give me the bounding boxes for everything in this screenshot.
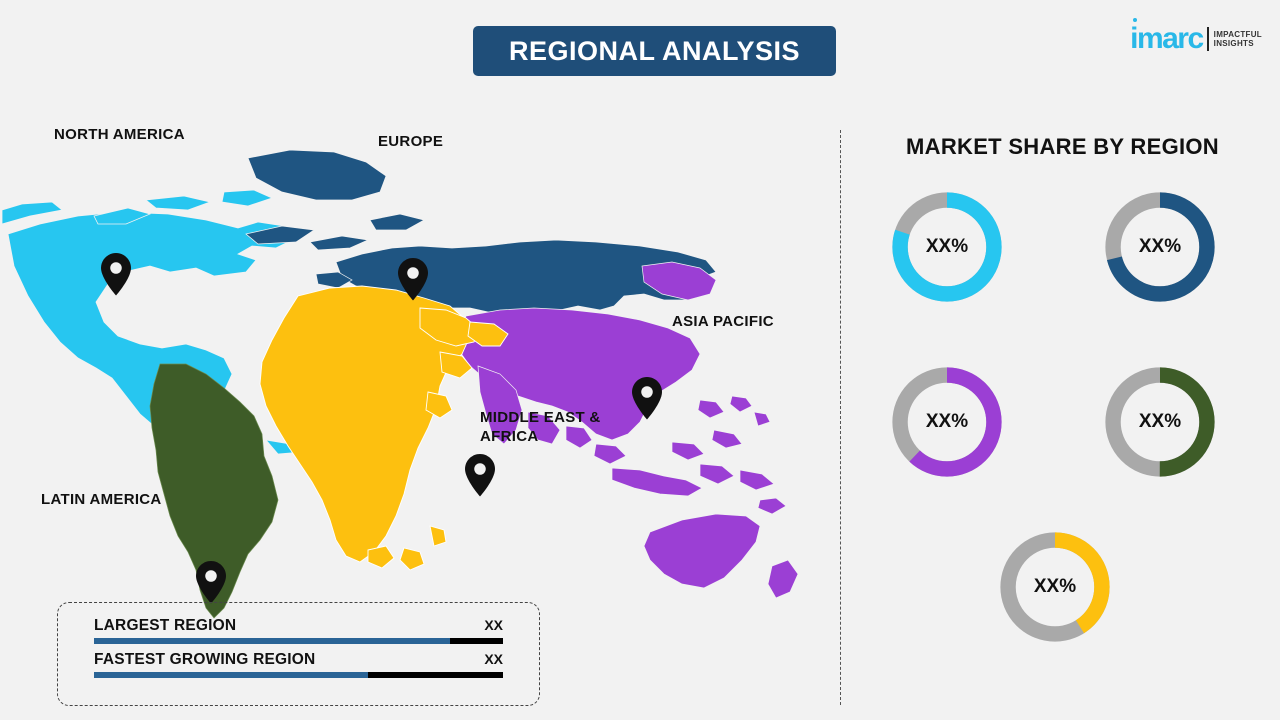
market-share-title: MARKET SHARE BY REGION xyxy=(845,134,1280,160)
map-pin-middle-east-africa[interactable] xyxy=(465,454,495,496)
legend-value-largest-region: XX xyxy=(484,617,503,633)
imarc-logo: imarc IMPACTFUL INSIGHTS xyxy=(1130,22,1262,56)
donut-chart-latin-america: XX% xyxy=(1098,360,1222,484)
region-summary-box: LARGEST REGION XX FASTEST GROWING REGION… xyxy=(57,602,540,706)
donut-value-north-america: XX% xyxy=(885,185,1009,309)
legend-fill-largest-region xyxy=(94,638,450,644)
world-map-panel xyxy=(0,96,830,626)
world-map-svg xyxy=(0,96,830,626)
map-pin-asia-pacific[interactable] xyxy=(632,377,662,419)
region-label-middle-east-africa: MIDDLE EAST & AFRICA xyxy=(480,409,601,447)
donut-value-latin-america: XX% xyxy=(1098,360,1222,484)
map-pin-latin-america[interactable] xyxy=(196,561,226,603)
market-share-panel: MARKET SHARE BY REGION XX% XX% XX% XX% X… xyxy=(845,120,1280,700)
donut-value-asia-pacific: XX% xyxy=(885,360,1009,484)
map-pin-north-america[interactable] xyxy=(101,253,131,295)
legend-track-fastest-growing-region xyxy=(94,672,503,678)
donut-chart-asia-pacific: XX% xyxy=(885,360,1009,484)
page-title: REGIONAL ANALYSIS xyxy=(509,36,800,67)
map-pin-europe[interactable] xyxy=(398,258,428,300)
donut-value-middle-east-africa: XX% xyxy=(993,525,1117,649)
vertical-dashed-divider xyxy=(840,130,841,705)
region-label-latin-america: LATIN AMERICA xyxy=(41,491,162,510)
region-label-north-america: NORTH AMERICA xyxy=(54,126,185,145)
legend-label-largest-region: LARGEST REGION xyxy=(94,617,236,635)
logo-wordmark: imarc xyxy=(1130,24,1203,54)
logo-divider-bar xyxy=(1207,27,1209,51)
legend-label-fastest-growing-region: FASTEST GROWING REGION xyxy=(94,651,315,669)
legend-track-largest-region xyxy=(94,638,503,644)
donut-chart-middle-east-africa: XX% xyxy=(993,525,1117,649)
logo-tagline: IMPACTFUL INSIGHTS xyxy=(1214,30,1262,48)
donut-chart-europe: XX% xyxy=(1098,185,1222,309)
legend-fill-fastest-growing-region xyxy=(94,672,368,678)
map-region-middle-east-africa xyxy=(260,286,508,570)
legend-value-fastest-growing-region: XX xyxy=(484,651,503,667)
legend-row-fastest-growing-region: FASTEST GROWING REGION XX xyxy=(94,651,503,678)
region-label-europe: EUROPE xyxy=(378,133,443,152)
logo-tagline-line1: IMPACTFUL xyxy=(1214,30,1262,39)
donut-chart-north-america: XX% xyxy=(885,185,1009,309)
donut-value-europe: XX% xyxy=(1098,185,1222,309)
page-title-banner: REGIONAL ANALYSIS xyxy=(473,26,836,76)
logo-tagline-line2: INSIGHTS xyxy=(1214,39,1262,48)
region-label-asia-pacific: ASIA PACIFIC xyxy=(672,313,774,332)
legend-row-largest-region: LARGEST REGION XX xyxy=(94,617,503,644)
logo-wordmark-text: imarc xyxy=(1130,22,1203,55)
